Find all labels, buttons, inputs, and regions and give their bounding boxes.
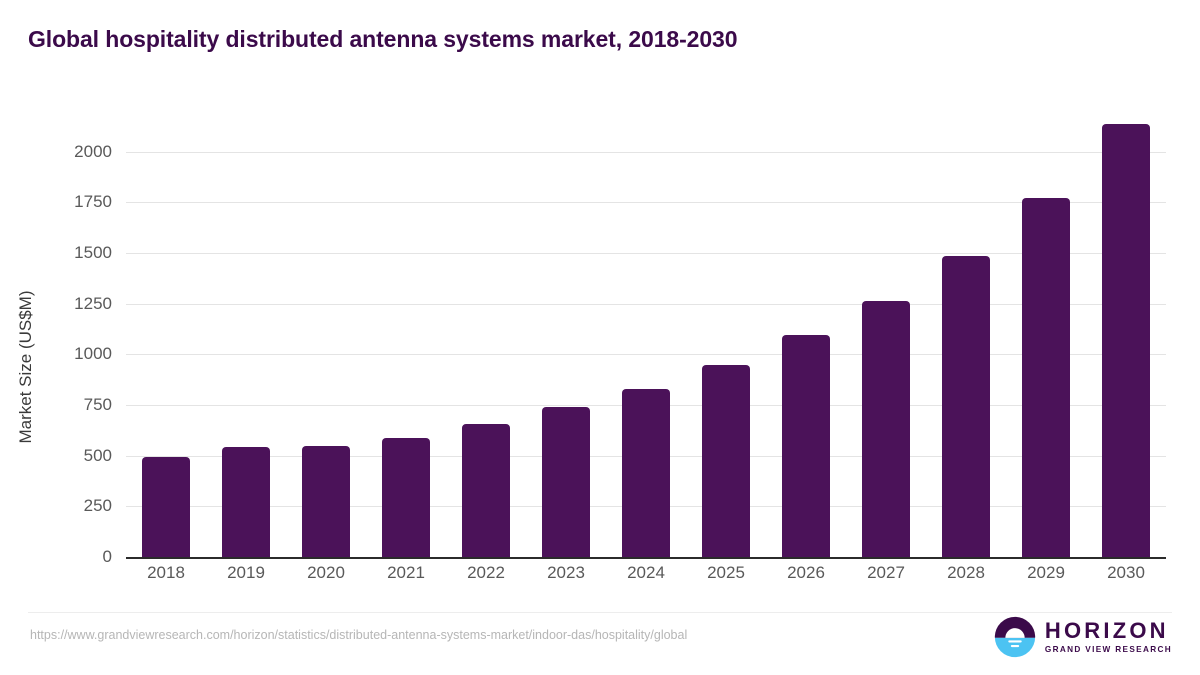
x-axis-tick-label: 2020 [307, 563, 345, 583]
x-axis-tick-label: 2027 [867, 563, 905, 583]
bar[interactable] [782, 335, 830, 557]
bar[interactable] [942, 256, 990, 557]
logo-tagline: GRAND VIEW RESEARCH [1045, 646, 1172, 654]
gridline [126, 202, 1166, 203]
y-axis-tick-label: 750 [84, 395, 112, 415]
bar[interactable] [702, 365, 750, 557]
horizon-logo-icon [994, 616, 1036, 658]
x-axis-tick-label: 2029 [1027, 563, 1065, 583]
x-axis-line [126, 557, 1166, 559]
gridline [126, 253, 1166, 254]
horizon-logo-text: HORIZON GRAND VIEW RESEARCH [1045, 620, 1172, 654]
gridline [126, 152, 1166, 153]
y-axis-tick-label: 0 [103, 547, 112, 567]
plot-area [126, 105, 1166, 557]
y-axis-title-wrap: Market Size (US$M) [0, 105, 1, 557]
bar[interactable] [1022, 198, 1070, 557]
x-axis-tick-label: 2021 [387, 563, 425, 583]
bar[interactable] [542, 407, 590, 557]
bar[interactable] [462, 424, 510, 557]
x-axis-tick-label: 2026 [787, 563, 825, 583]
bar[interactable] [1102, 124, 1150, 557]
bar[interactable] [862, 301, 910, 557]
x-axis-tick-label: 2030 [1107, 563, 1145, 583]
bar[interactable] [302, 446, 350, 557]
x-axis-tick-label: 2018 [147, 563, 185, 583]
horizon-logo[interactable]: HORIZON GRAND VIEW RESEARCH [994, 614, 1172, 660]
source-url[interactable]: https://www.grandviewresearch.com/horizo… [30, 628, 687, 642]
x-axis-tick-label: 2019 [227, 563, 265, 583]
y-axis-line [126, 105, 127, 557]
y-axis-tick-label: 1000 [74, 344, 112, 364]
y-axis-tick-label: 1250 [74, 294, 112, 314]
bar[interactable] [382, 438, 430, 557]
chart-title: Global hospitality distributed antenna s… [28, 26, 737, 53]
footer-divider [28, 612, 1172, 613]
bar[interactable] [222, 447, 270, 557]
x-axis-tick-label: 2023 [547, 563, 585, 583]
x-axis-tick-label: 2022 [467, 563, 505, 583]
x-axis-tick-label: 2024 [627, 563, 665, 583]
y-axis-tick-label: 1750 [74, 192, 112, 212]
gridline [126, 354, 1166, 355]
y-axis-tick-label: 250 [84, 496, 112, 516]
y-axis-tick-label: 500 [84, 446, 112, 466]
x-axis-tick-label: 2025 [707, 563, 745, 583]
bar[interactable] [142, 457, 190, 557]
y-axis-title: Market Size (US$M) [16, 187, 36, 547]
bar[interactable] [622, 389, 670, 557]
x-axis-tick-label: 2028 [947, 563, 985, 583]
logo-wordmark: HORIZON [1045, 620, 1172, 642]
chart-figure: Global hospitality distributed antenna s… [0, 0, 1200, 675]
gridline [126, 304, 1166, 305]
y-axis-tick-label: 2000 [74, 142, 112, 162]
x-axis-tick-labels: 2018201920202021202220232024202520262027… [126, 563, 1166, 593]
y-axis-tick-label: 1500 [74, 243, 112, 263]
